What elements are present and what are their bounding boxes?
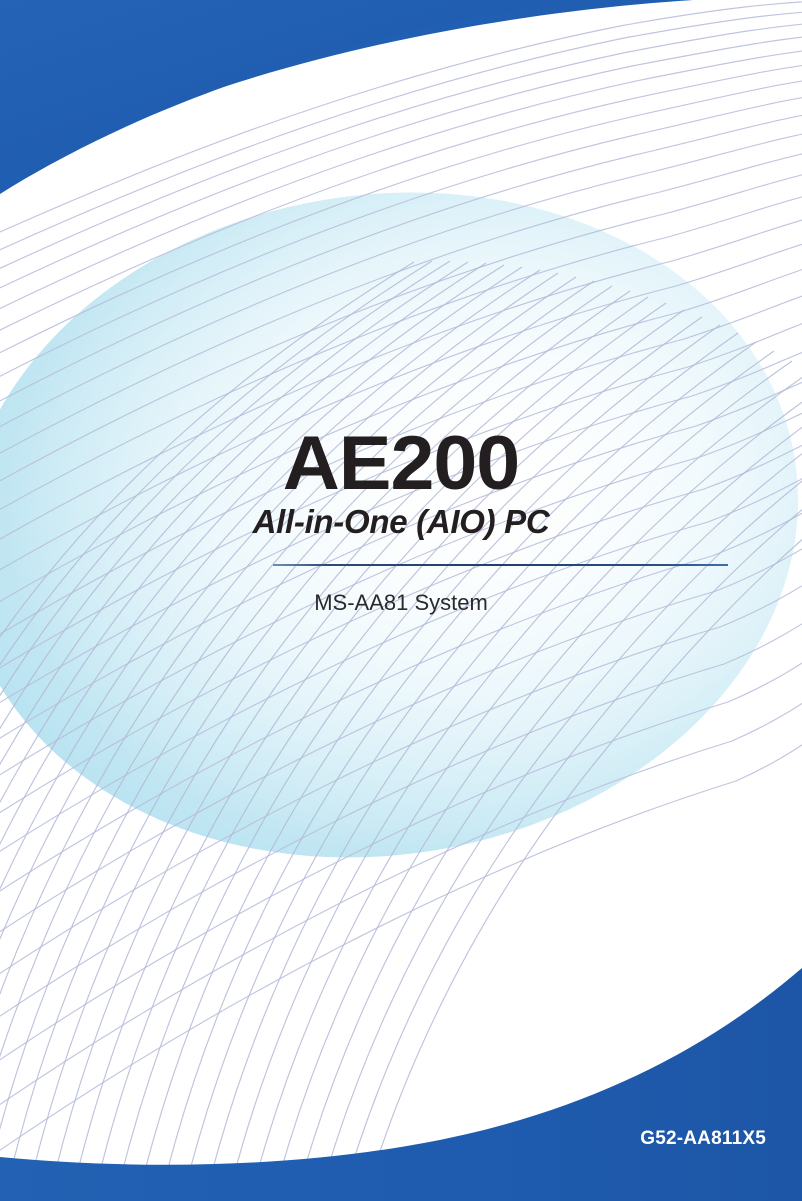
title-block: AE200 All-in-One (AIO) PC xyxy=(0,425,802,541)
page-title: AE200 xyxy=(0,425,802,503)
document-code-label: G52-AA811X5 xyxy=(640,1128,766,1150)
title-divider-rule xyxy=(273,564,728,566)
product-subtitle: All-in-One (AIO) PC xyxy=(0,503,802,541)
model-name-label: MS-AA81 System xyxy=(0,589,802,617)
cover-page: AE200 All-in-One (AIO) PC MS-AA81 System… xyxy=(0,0,802,1201)
